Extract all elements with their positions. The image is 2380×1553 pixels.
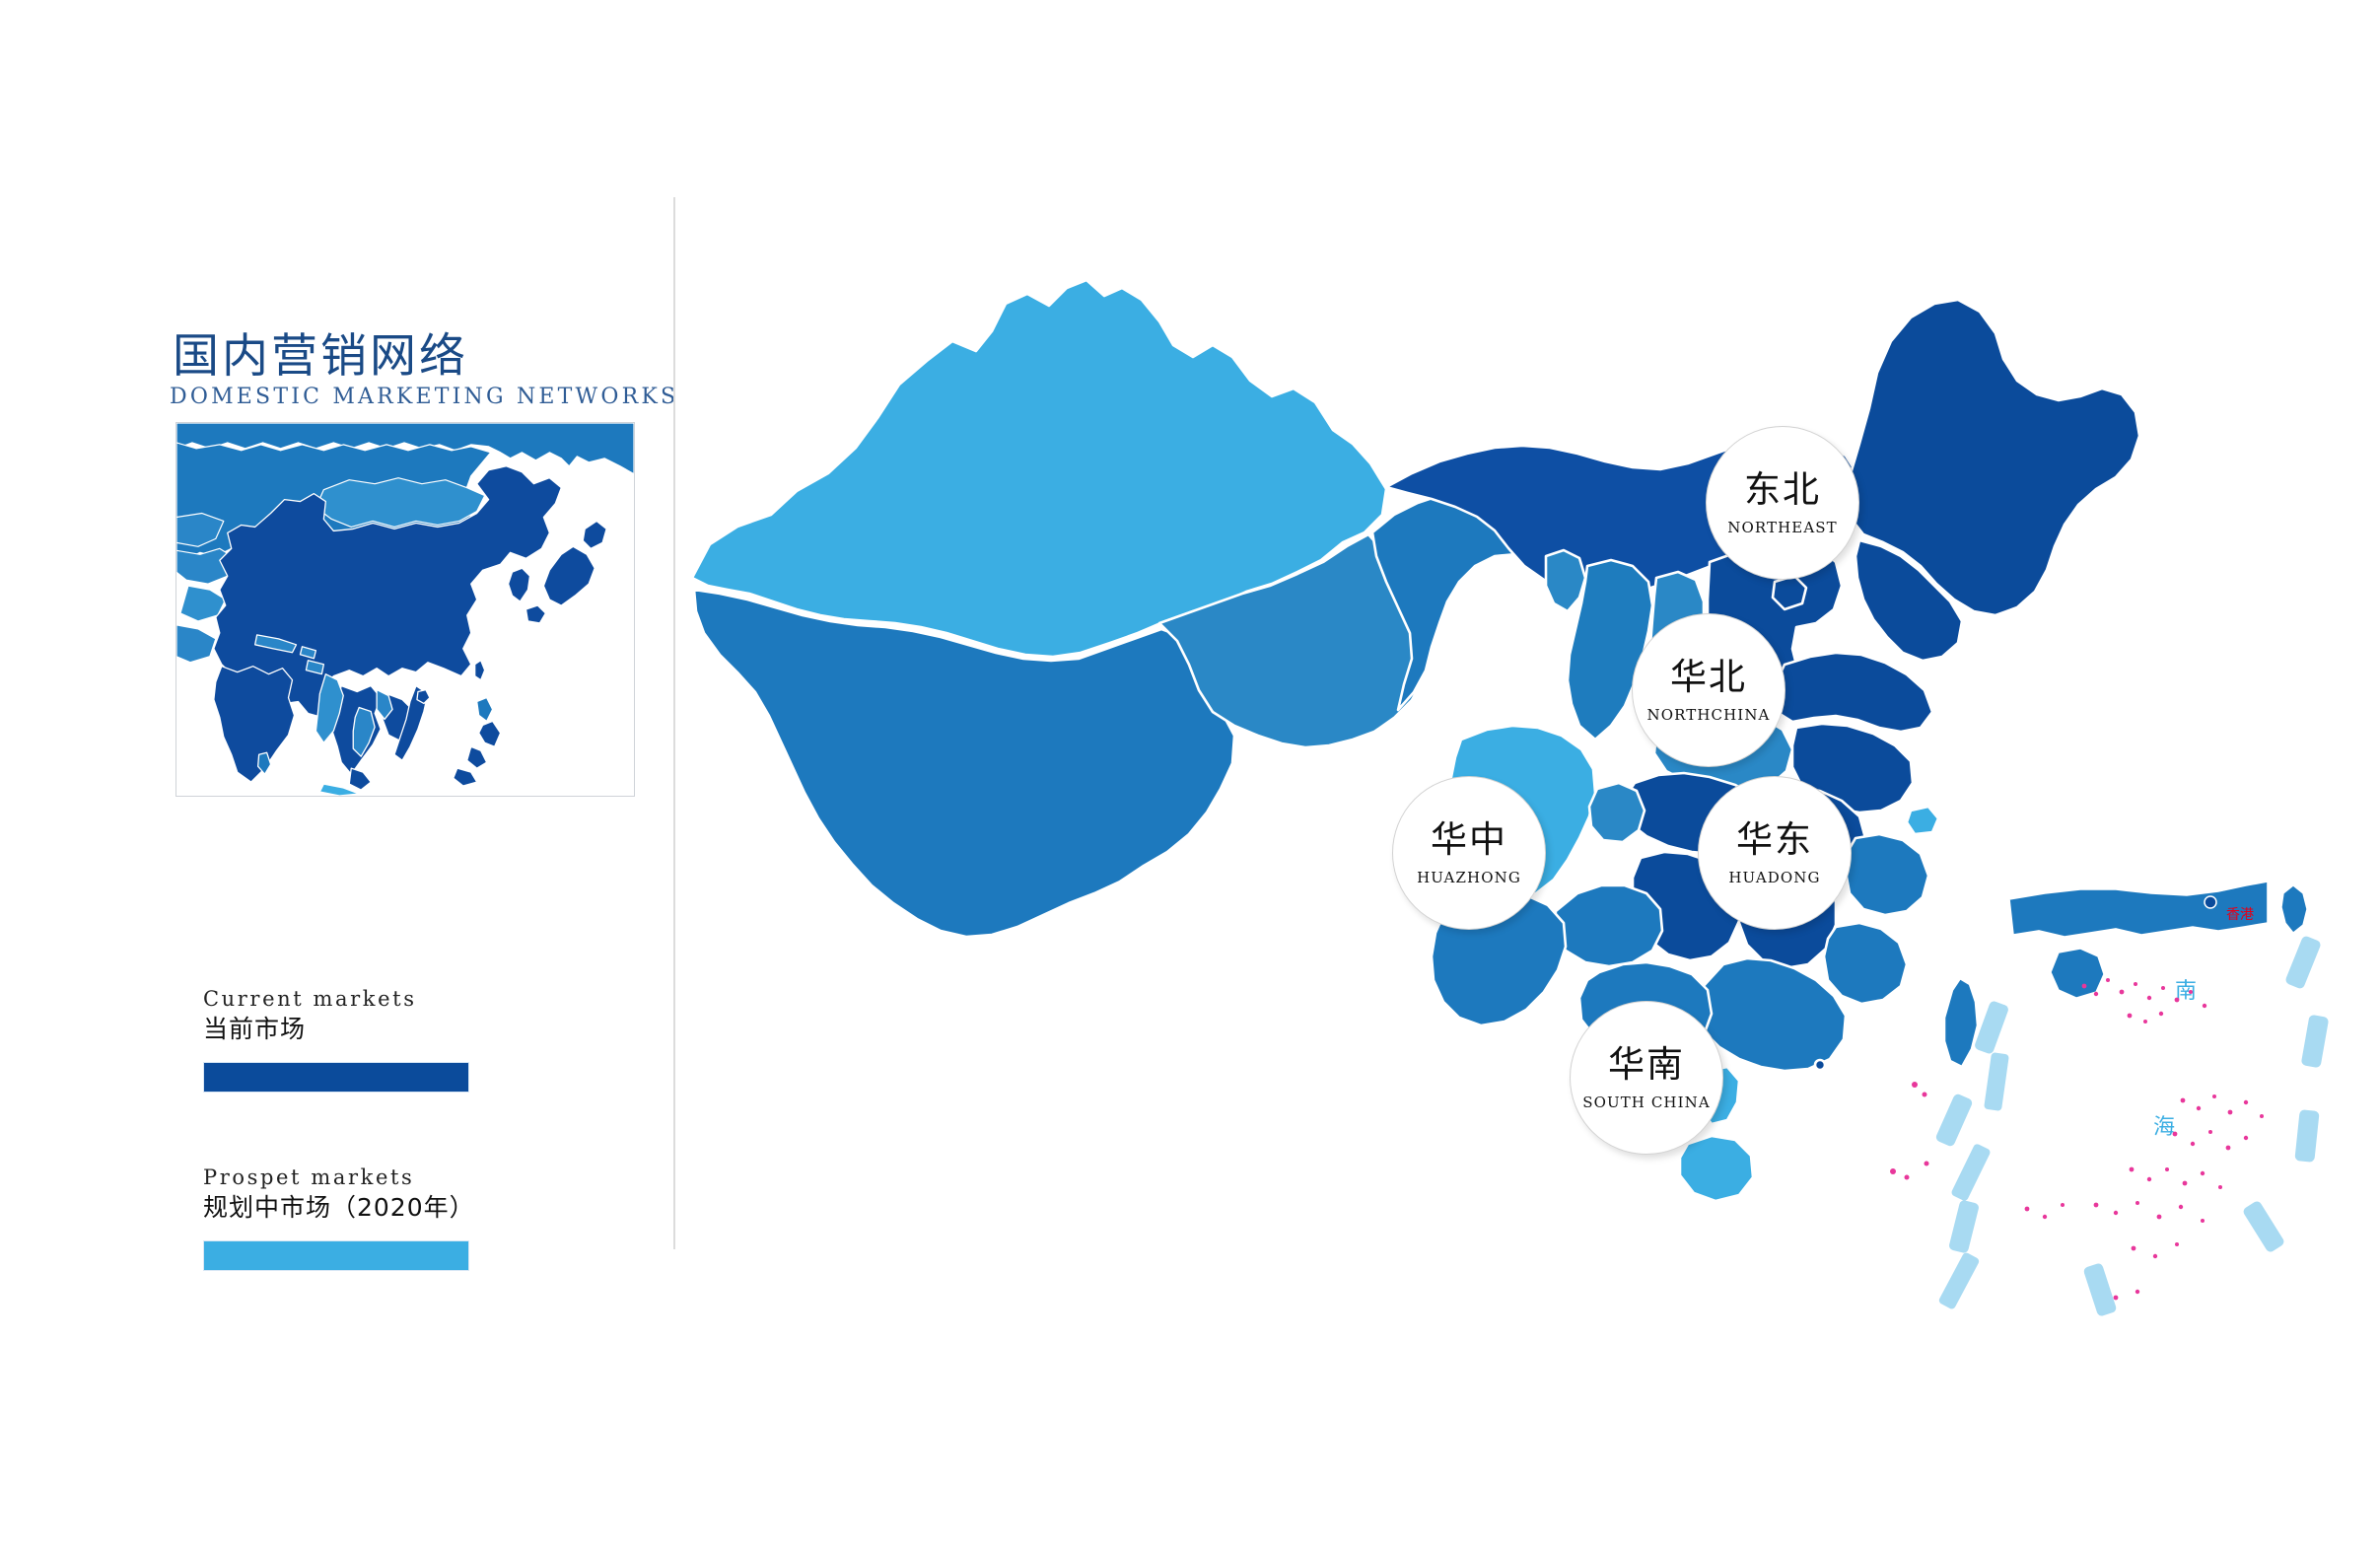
- left-info-panel: 国内营销网络 DOMESTIC MARKETING NETWORKS: [0, 0, 673, 1553]
- china-map-svg: 香港 南 海: [680, 148, 2380, 1321]
- legend-label-cn-current: 当前市场: [203, 1014, 538, 1046]
- region-label-cn-huazhong: 华中: [1431, 821, 1507, 858]
- legend-item-current: Current markets 当前市场: [203, 986, 538, 1093]
- region-bubble-southchina[interactable]: 华南 SOUTH CHINA: [1570, 1001, 1723, 1155]
- province-guizhou: [1554, 885, 1662, 966]
- legend-label-cn-prospect: 规划中市场（2020年）: [203, 1192, 538, 1225]
- region-label-cn-northeast: 东北: [1744, 471, 1821, 508]
- sea-inset-label-hai: 海: [2153, 1115, 2175, 1140]
- province-zhejiang: [1846, 834, 1928, 915]
- nine-dash-line-main: [1937, 1052, 2009, 1310]
- legend-swatch-prospect: [203, 1240, 469, 1271]
- sea-inset-hongkong-dot: [2205, 896, 2216, 908]
- region-label-en-northchina: NORTHCHINA: [1647, 708, 1771, 723]
- page-title-cn: 国内营销网络: [173, 318, 468, 386]
- province-hainan: [1680, 1136, 1753, 1201]
- region-label-en-huadong: HUADONG: [1728, 871, 1820, 885]
- map-legend: Current markets 当前市场 Prospet markets 规划中…: [203, 986, 538, 1271]
- legend-label-en-prospect: Prospet markets: [203, 1165, 538, 1190]
- region-bubble-northchina[interactable]: 华北 NORTHCHINA: [1632, 613, 1785, 767]
- sea-inset-hainan: [2051, 949, 2104, 998]
- region-label-cn-northchina: 华北: [1670, 659, 1747, 695]
- province-ningxia: [1546, 550, 1585, 611]
- region-label-en-southchina: SOUTH CHINA: [1582, 1095, 1711, 1110]
- legend-item-prospect: Prospet markets 规划中市场（2020年）: [203, 1165, 538, 1271]
- region-bubble-northeast[interactable]: 东北 NORTHEAST: [1706, 426, 1859, 580]
- asia-inset-map: [175, 422, 635, 797]
- region-bubble-huazhong[interactable]: 华中 HUAZHONG: [1392, 776, 1546, 930]
- province-taiwan: [1944, 978, 1978, 1067]
- province-fujian: [1824, 923, 1907, 1004]
- china-map: 香港 南 海: [680, 148, 2380, 1321]
- island-markers-main: [1890, 1082, 1929, 1180]
- city-beijing: [1773, 576, 1806, 609]
- city-chongqing: [1589, 783, 1645, 842]
- sea-inset-island-dots: [2025, 978, 2264, 1300]
- sea-inset-hongkong-label: 香港: [2226, 907, 2254, 923]
- region-bubble-huadong[interactable]: 华东 HUADONG: [1698, 776, 1852, 930]
- region-label-en-huazhong: HUAZHONG: [1417, 871, 1521, 885]
- legend-swatch-current: [203, 1062, 469, 1093]
- region-label-cn-southchina: 华南: [1608, 1046, 1685, 1083]
- city-shanghai: [1907, 807, 1938, 834]
- page-title-en: DOMESTIC MARKETING NETWORKS: [170, 385, 678, 409]
- province-shandong: [1773, 653, 1932, 732]
- marker-hongkong: [1815, 1060, 1825, 1070]
- region-label-en-northeast: NORTHEAST: [1727, 521, 1838, 535]
- sea-inset-taiwan: [2281, 885, 2307, 933]
- asia-inset-svg: [176, 423, 634, 796]
- sea-inset-nine-dash: [1934, 935, 2329, 1317]
- province-tibet: [694, 590, 1234, 937]
- region-label-cn-huadong: 华东: [1736, 821, 1813, 858]
- panel-divider: [673, 197, 675, 1249]
- legend-label-en-current: Current markets: [203, 986, 538, 1012]
